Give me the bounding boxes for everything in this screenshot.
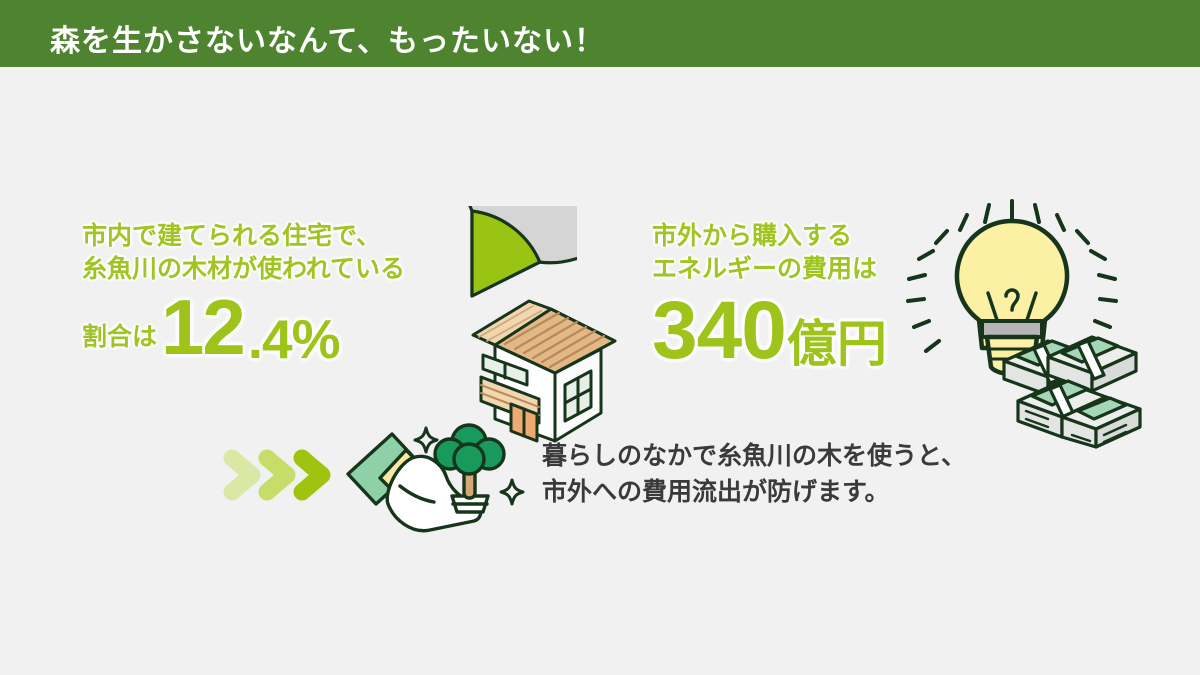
page-title: 森を生かさないなんて、もったいない！ xyxy=(50,16,605,60)
right-lead-line1: 市外から購入する xyxy=(652,220,887,253)
triple-chevron-icon xyxy=(222,445,342,510)
conclusion-line2: 市外への費用流出が防げます。 xyxy=(542,474,966,510)
right-stat-value-unit: 億円 xyxy=(787,319,887,369)
left-lead-line3: 割合は xyxy=(82,317,157,357)
left-stat-value: 12 xyxy=(161,288,244,366)
left-stat-value-decimal: .4% xyxy=(248,312,340,367)
money-stack-icon xyxy=(1000,329,1145,459)
right-stat-block: 市外から購入する エネルギーの費用は 340 億円 xyxy=(652,220,887,372)
left-lead-line2: 糸魚川の木材が使われている xyxy=(82,253,405,286)
left-stat-block: 市内で建てられる住宅で、 糸魚川の木材が使われている 割合は 12 .4% xyxy=(82,220,405,366)
hand-planting-tree-icon xyxy=(340,422,530,542)
conclusion-text: 暮らしのなかで糸魚川の木を使うと、 市外への費用流出が防げます。 xyxy=(542,438,966,510)
right-lead-line2: エネルギーの費用は xyxy=(652,253,887,286)
right-stat-value: 340 xyxy=(652,290,786,372)
left-lead-line1: 市内で建てられる住宅で、 xyxy=(82,220,405,253)
conclusion-line1: 暮らしのなかで糸魚川の木を使うと、 xyxy=(542,438,966,474)
header-banner: 森を生かさないなんて、もったいない！ xyxy=(0,0,1200,67)
slide-body: 市内で建てられる住宅で、 糸魚川の木材が使われている 割合は 12 .4% 市外… xyxy=(0,67,1200,675)
